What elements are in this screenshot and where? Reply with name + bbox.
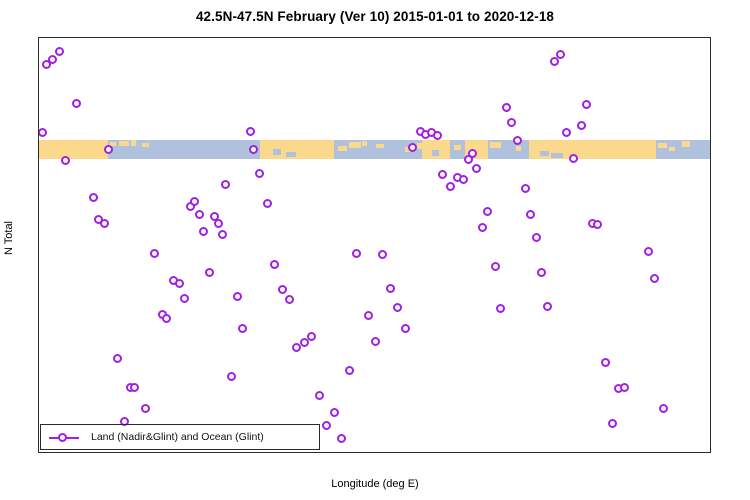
- data-point: [659, 404, 668, 413]
- data-point: [650, 274, 659, 283]
- data-point: [446, 182, 455, 191]
- data-point: [532, 233, 541, 242]
- data-point: [141, 404, 150, 413]
- data-point: [199, 227, 208, 236]
- data-point: [55, 47, 64, 56]
- data-point: [278, 285, 287, 294]
- data-point: [386, 284, 395, 293]
- ocean-inlet-detail: [273, 149, 281, 155]
- coastline-detail: [454, 145, 461, 150]
- data-point: [100, 219, 109, 228]
- ocean-inlet-detail: [551, 153, 563, 158]
- data-point: [569, 154, 578, 163]
- data-point: [543, 302, 552, 311]
- data-point: [526, 210, 535, 219]
- data-point: [507, 118, 516, 127]
- data-point: [593, 220, 602, 229]
- data-point: [364, 311, 373, 320]
- data-point: [130, 383, 139, 392]
- data-point: [175, 279, 184, 288]
- legend-label: Land (Nadir&Glint) and Ocean (Glint): [91, 431, 264, 443]
- data-point: [459, 175, 468, 184]
- data-point: [468, 149, 477, 158]
- y-tick: [38, 420, 39, 421]
- coastline-detail: [516, 146, 521, 151]
- data-point: [150, 249, 159, 258]
- data-point: [307, 332, 316, 341]
- y-tick: [38, 197, 39, 198]
- x-axis-label: Longitude (deg E): [0, 478, 750, 490]
- data-point: [408, 143, 417, 152]
- data-point: [104, 145, 113, 154]
- data-point: [270, 260, 279, 269]
- ocean-inlet-detail: [432, 150, 439, 156]
- data-point: [483, 207, 492, 216]
- data-point: [89, 193, 98, 202]
- coastline-detail: [362, 141, 367, 146]
- data-point: [162, 314, 171, 323]
- data-point: [582, 100, 591, 109]
- data-point: [255, 169, 264, 178]
- y-tick: [38, 353, 39, 354]
- coastline-detail: [119, 141, 129, 146]
- chart-root: 42.5N-47.5N February (Ver 10) 2015-01-01…: [0, 0, 750, 500]
- data-point: [72, 99, 81, 108]
- coastline-detail: [417, 143, 426, 149]
- coastline-detail: [142, 143, 149, 147]
- data-point: [644, 247, 653, 256]
- data-point: [438, 170, 447, 179]
- data-point: [521, 184, 530, 193]
- data-point: [205, 268, 214, 277]
- coastline-detail: [338, 146, 347, 151]
- data-point: [195, 210, 204, 219]
- data-point: [345, 366, 354, 375]
- data-point: [478, 223, 487, 232]
- data-point: [315, 391, 324, 400]
- ocean-inlet-detail: [286, 152, 296, 157]
- chart-title: 42.5N-47.5N February (Ver 10) 2015-01-01…: [0, 9, 750, 24]
- y-tick: [38, 130, 39, 131]
- data-point: [371, 337, 380, 346]
- world-map-band: [39, 140, 711, 159]
- data-point: [577, 121, 586, 130]
- land-segment: [529, 140, 656, 159]
- coastline-detail: [490, 142, 501, 148]
- data-point: [537, 268, 546, 277]
- data-point: [113, 354, 122, 363]
- data-point: [433, 131, 442, 140]
- legend[interactable]: Land (Nadir&Glint) and Ocean (Glint): [40, 424, 320, 450]
- data-point: [337, 434, 346, 443]
- y-tick: [38, 286, 39, 287]
- coastline-detail: [376, 144, 384, 148]
- data-point: [238, 324, 247, 333]
- x-tick: [39, 452, 40, 453]
- x-tick: [544, 452, 545, 453]
- land-segment: [39, 140, 108, 159]
- data-point: [263, 199, 272, 208]
- coastline-detail: [349, 142, 361, 148]
- data-point: [233, 292, 242, 301]
- data-point: [38, 128, 47, 137]
- data-point: [393, 303, 402, 312]
- data-point: [330, 408, 339, 417]
- y-tick: [38, 63, 39, 64]
- data-point: [502, 103, 511, 112]
- data-point: [190, 197, 199, 206]
- data-point: [322, 421, 331, 430]
- data-point: [352, 249, 361, 258]
- x-tick: [376, 452, 377, 453]
- data-point: [378, 250, 387, 259]
- coastline-detail: [131, 140, 136, 146]
- ocean-inlet-detail: [540, 151, 549, 156]
- data-point: [513, 136, 522, 145]
- data-point: [472, 164, 481, 173]
- data-point: [48, 55, 57, 64]
- legend-entry: Land (Nadir&Glint) and Ocean (Glint): [41, 425, 321, 451]
- coastline-detail: [682, 141, 690, 147]
- data-point: [61, 156, 70, 165]
- data-point: [556, 50, 565, 59]
- data-point: [496, 304, 505, 313]
- data-point: [227, 372, 236, 381]
- y-axis-label: N Total: [2, 0, 16, 500]
- data-point: [180, 294, 189, 303]
- data-point: [221, 180, 230, 189]
- data-point: [214, 219, 223, 228]
- coastline-detail: [669, 147, 675, 151]
- y-axis-label-text: N Total: [3, 212, 15, 264]
- land-segment: [260, 140, 335, 159]
- data-point: [601, 358, 610, 367]
- coastline-detail: [658, 143, 667, 148]
- data-point: [608, 419, 617, 428]
- data-point: [218, 230, 227, 239]
- data-point: [246, 127, 255, 136]
- data-point: [491, 262, 500, 271]
- data-point: [620, 383, 629, 392]
- data-point: [401, 324, 410, 333]
- x-tick: [207, 452, 208, 453]
- data-point: [285, 295, 294, 304]
- plot-area: 5001000200050001000020000 90 E18090 W090…: [38, 37, 711, 453]
- legend-marker-icon: [58, 433, 67, 442]
- data-point: [562, 128, 571, 137]
